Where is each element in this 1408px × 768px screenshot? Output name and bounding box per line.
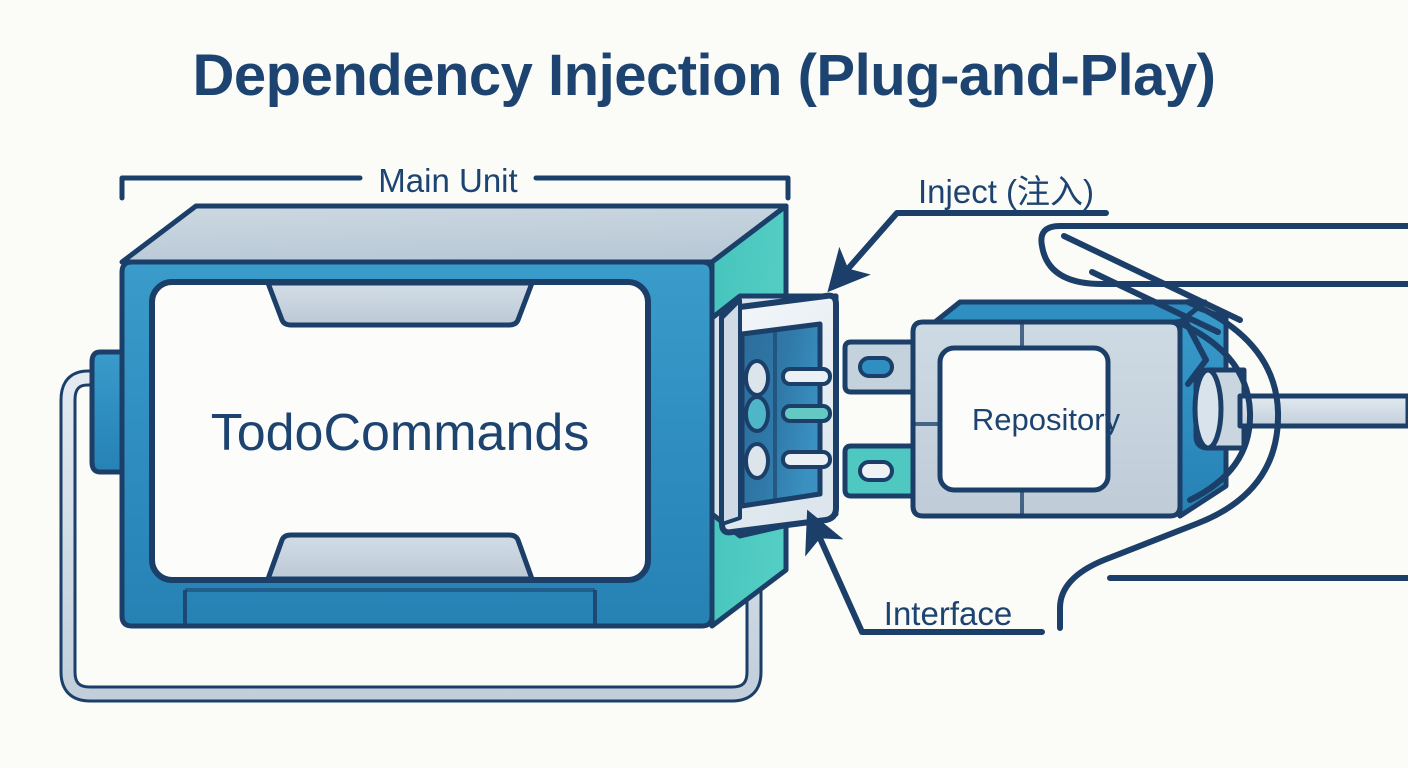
unit-side-tab xyxy=(92,352,122,472)
socket-interface[interactable] xyxy=(712,296,836,536)
socket-slot-2 xyxy=(783,406,830,421)
plug-cable xyxy=(1240,396,1408,426)
unit-bottom-grip xyxy=(268,535,532,579)
socket-hole-2 xyxy=(746,397,768,431)
cable-collar-cap xyxy=(1195,370,1221,448)
socket-edge-strip xyxy=(722,300,740,524)
prong-top-hole xyxy=(860,358,892,376)
screen-label: TodoCommands xyxy=(211,404,590,462)
main-unit-box: TodoCommands xyxy=(92,206,786,626)
inject-label: Inject (注入) xyxy=(918,173,1094,210)
diagram-canvas: Dependency Injection (Plug-and-Play) Mai… xyxy=(0,0,1408,768)
diagram-svg: Dependency Injection (Plug-and-Play) Mai… xyxy=(0,0,1408,768)
main-unit-label: Main Unit xyxy=(378,162,517,199)
prong-bottom-hole xyxy=(860,462,892,480)
unit-top-grip xyxy=(268,283,532,325)
interface-label: Interface xyxy=(884,595,1012,632)
unit-top-face xyxy=(122,206,786,262)
plug-label: Repository xyxy=(972,402,1121,437)
socket-hole-1 xyxy=(746,361,768,395)
socket-slot-3 xyxy=(783,452,830,467)
socket-slot-1 xyxy=(783,369,830,384)
page-title: Dependency Injection (Plug-and-Play) xyxy=(193,43,1216,108)
socket-hole-3 xyxy=(746,444,768,478)
